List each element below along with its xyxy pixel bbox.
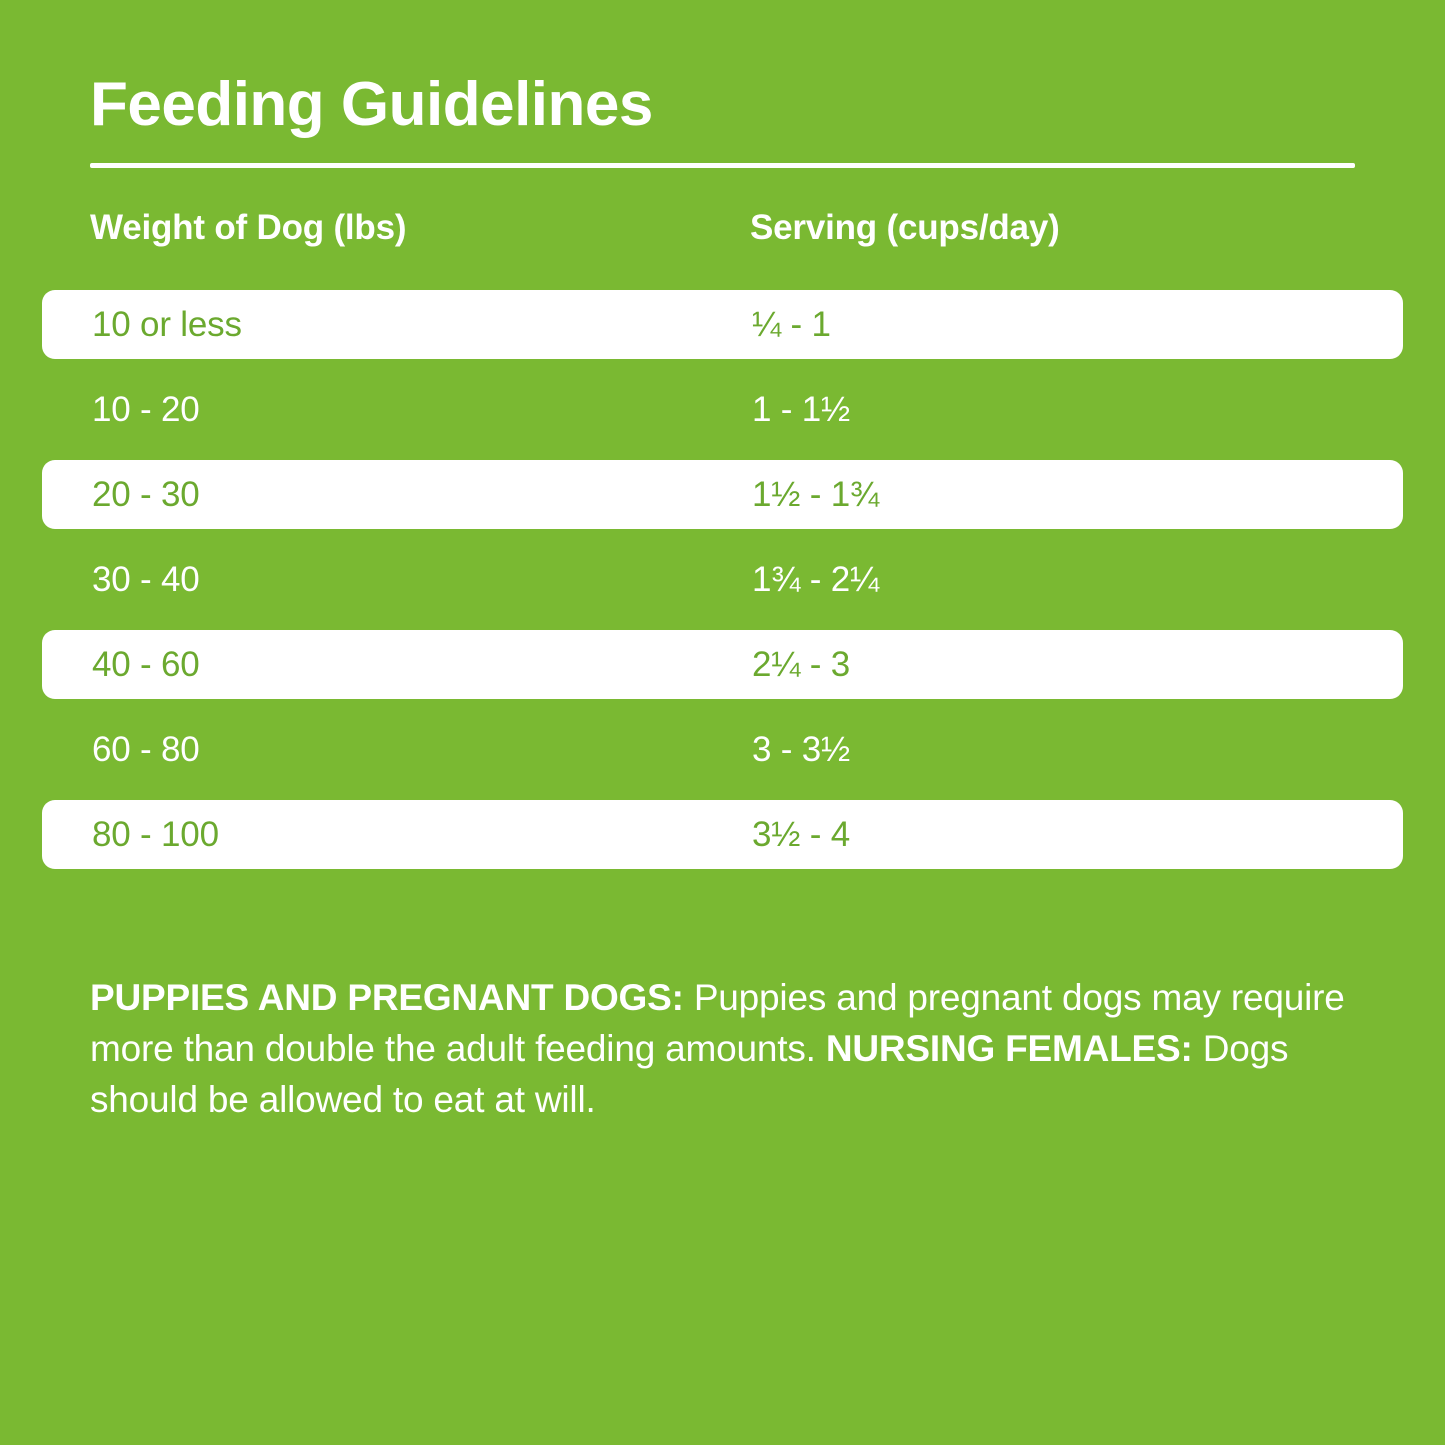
page-title: Feeding Guidelines xyxy=(90,72,1355,137)
cell-weight: 30 - 40 xyxy=(92,562,752,597)
table-column-headers: Weight of Dog (lbs) Serving (cups/day) xyxy=(90,208,1390,248)
cell-serving: 1¾ - 2¼ xyxy=(752,562,1352,597)
feeding-note: PUPPIES AND PREGNANT DOGS: Puppies and p… xyxy=(90,972,1370,1125)
table-row: 20 - 30 1½ - 1¾ xyxy=(42,460,1403,529)
table-row: 10 - 20 1 - 1½ xyxy=(42,375,1403,444)
cell-weight: 10 or less xyxy=(92,307,752,342)
table-row: 30 - 40 1¾ - 2¼ xyxy=(42,545,1403,614)
column-header-weight: Weight of Dog (lbs) xyxy=(90,208,750,248)
cell-serving: 1½ - 1¾ xyxy=(752,477,1352,512)
table-row: 10 or less ¼ - 1 xyxy=(42,290,1403,359)
cell-weight: 40 - 60 xyxy=(92,647,752,682)
cell-serving: 2¼ - 3 xyxy=(752,647,1352,682)
cell-serving: 3 - 3½ xyxy=(752,732,1352,767)
cell-serving: ¼ - 1 xyxy=(752,307,1352,342)
column-header-serving: Serving (cups/day) xyxy=(750,208,1370,248)
cell-weight: 20 - 30 xyxy=(92,477,752,512)
feeding-table: 10 or less ¼ - 1 10 - 20 1 - 1½ 20 - 30 … xyxy=(42,290,1403,869)
table-row: 80 - 100 3½ - 4 xyxy=(42,800,1403,869)
title-divider xyxy=(90,163,1355,168)
cell-weight: 60 - 80 xyxy=(92,732,752,767)
cell-weight: 10 - 20 xyxy=(92,392,752,427)
cell-weight: 80 - 100 xyxy=(92,817,752,852)
cell-serving: 1 - 1½ xyxy=(752,392,1352,427)
note-label-nursing: NURSING FEMALES: xyxy=(826,1028,1193,1069)
note-label-puppies: PUPPIES AND PREGNANT DOGS: xyxy=(90,977,684,1018)
feeding-guidelines-panel: Feeding Guidelines Weight of Dog (lbs) S… xyxy=(0,0,1445,1445)
cell-serving: 3½ - 4 xyxy=(752,817,1352,852)
table-row: 40 - 60 2¼ - 3 xyxy=(42,630,1403,699)
title-block: Feeding Guidelines xyxy=(90,72,1355,168)
table-row: 60 - 80 3 - 3½ xyxy=(42,715,1403,784)
